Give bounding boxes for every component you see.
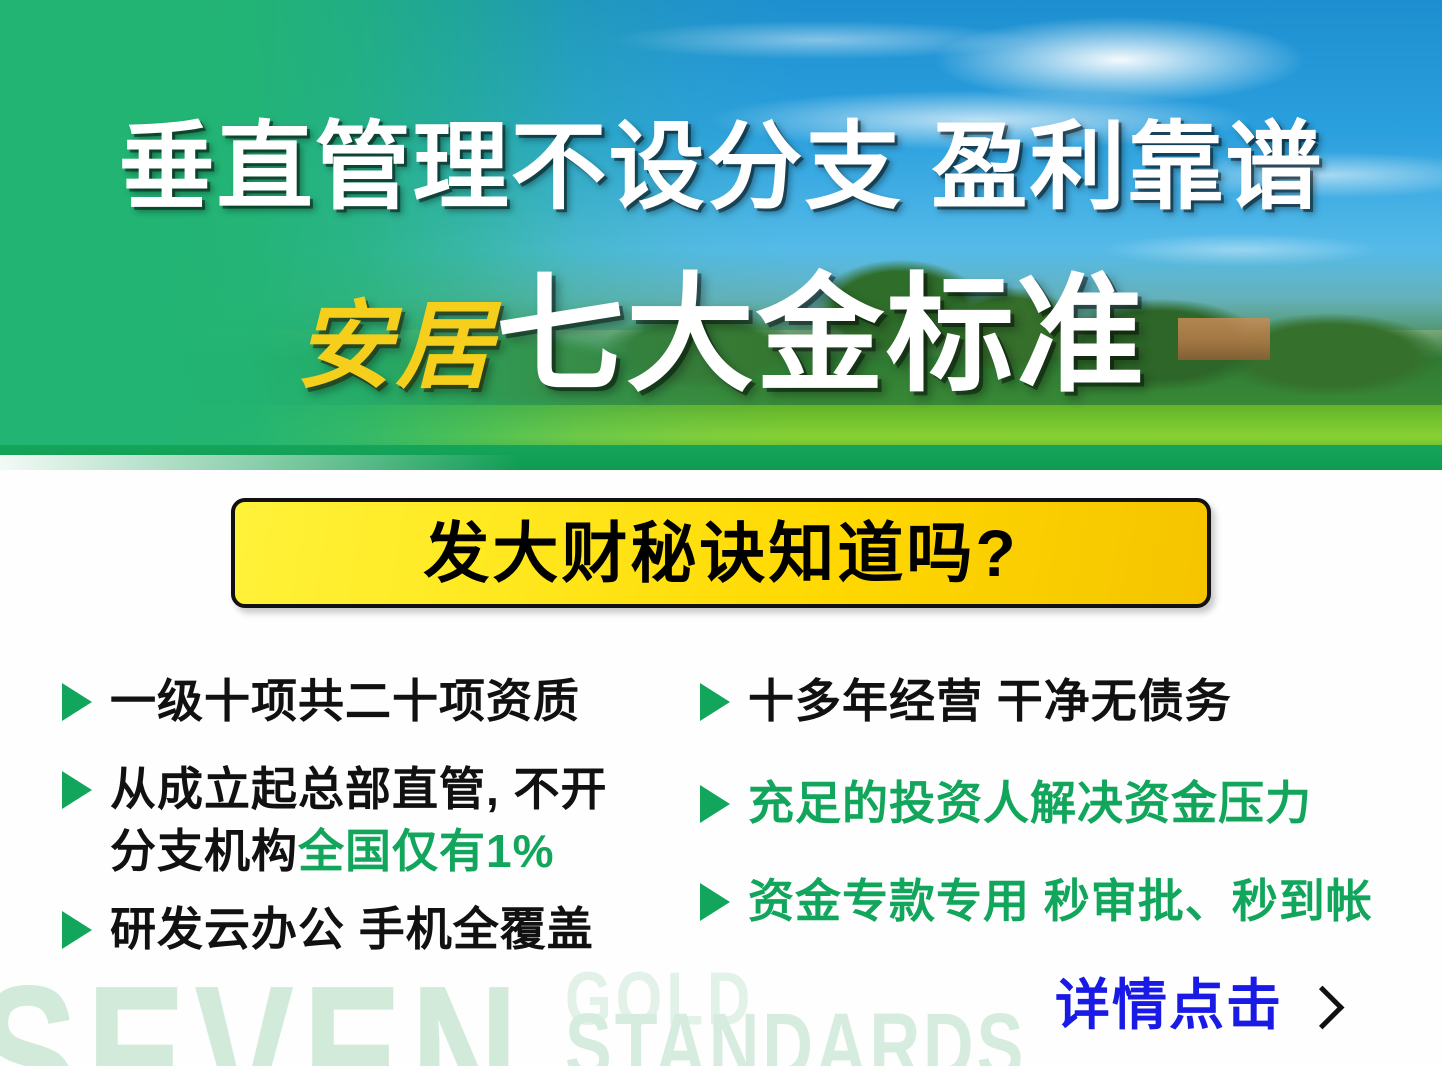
feature-list-right: 十多年经营 干净无债务 充足的投资人解决资金压力 资金专款专用 秒审批、秒到帐 <box>700 670 1420 960</box>
question-banner-box[interactable]: 发大财秘诀知道吗? <box>231 498 1211 608</box>
feature-text: 研发云办公 手机全覆盖 <box>110 898 594 960</box>
watermark-standards: STANDARDS <box>565 1000 1026 1066</box>
triangle-bullet-icon <box>700 883 730 921</box>
hero-headline-secondary: 安居七大金标准 <box>0 272 1442 439</box>
list-item: 充足的投资人解决资金压力 <box>700 772 1420 834</box>
list-item: 一级十项共二十项资质 <box>62 670 702 732</box>
feature-text: 从成立起总部直管, 不开 分支机构全国仅有1% <box>110 758 608 882</box>
feature-line-1: 十多年经营 干净无债务 <box>748 670 1232 732</box>
triangle-bullet-icon <box>62 683 92 721</box>
bottom-white-fade <box>0 455 520 470</box>
triangle-bullet-icon <box>62 911 92 949</box>
feature-line-1: 资金专款专用 秒审批、秒到帐 <box>748 870 1373 932</box>
cta-label: 详情点击 <box>1055 975 1283 1035</box>
hero-headline-primary: 垂直管理不设分支 盈利靠谱 <box>0 113 1442 223</box>
list-item: 资金专款专用 秒审批、秒到帐 <box>700 870 1420 932</box>
hero-subheadline-label: 七大金标准 <box>496 264 1146 407</box>
triangle-bullet-icon <box>62 771 92 809</box>
hero-image-section: 垂直管理不设分支 盈利靠谱 安居七大金标准 <box>0 0 1442 470</box>
feature-line-2: 分支机构全国仅有1% <box>110 820 608 882</box>
feature-line-1: 充足的投资人解决资金压力 <box>748 772 1312 834</box>
feature-text: 十多年经营 干净无债务 <box>748 670 1232 732</box>
list-item: 十多年经营 干净无债务 <box>700 670 1420 732</box>
feature-line-1: 从成立起总部直管, 不开 <box>110 758 608 820</box>
feature-text: 资金专款专用 秒审批、秒到帐 <box>748 870 1373 932</box>
list-item: 研发云办公 手机全覆盖 <box>62 898 702 960</box>
promo-banner: 垂直管理不设分支 盈利靠谱 安居七大金标准 SEVEN GOLD STANDAR… <box>0 0 1442 1066</box>
feature-line-2-highlight: 全国仅有1% <box>298 825 554 877</box>
feature-line-1: 研发云办公 手机全覆盖 <box>110 898 594 960</box>
question-banner-text: 发大财秘诀知道吗? <box>423 518 1018 588</box>
feature-text: 充足的投资人解决资金压力 <box>748 772 1312 834</box>
chevron-right-icon <box>1301 985 1345 1029</box>
feature-line-1: 一级十项共二十项资质 <box>110 670 580 732</box>
feature-list-left: 一级十项共二十项资质 从成立起总部直管, 不开 分支机构全国仅有1% 研发云办公… <box>62 670 702 988</box>
cta-details-link[interactable]: 详情点击 <box>1055 975 1338 1035</box>
list-item: 从成立起总部直管, 不开 分支机构全国仅有1% <box>62 758 702 882</box>
feature-text: 一级十项共二十项资质 <box>110 670 580 732</box>
triangle-bullet-icon <box>700 683 730 721</box>
triangle-bullet-icon <box>700 785 730 823</box>
feature-line-2-plain: 分支机构 <box>110 825 298 877</box>
hero-brand-label: 安居 <box>296 293 496 400</box>
